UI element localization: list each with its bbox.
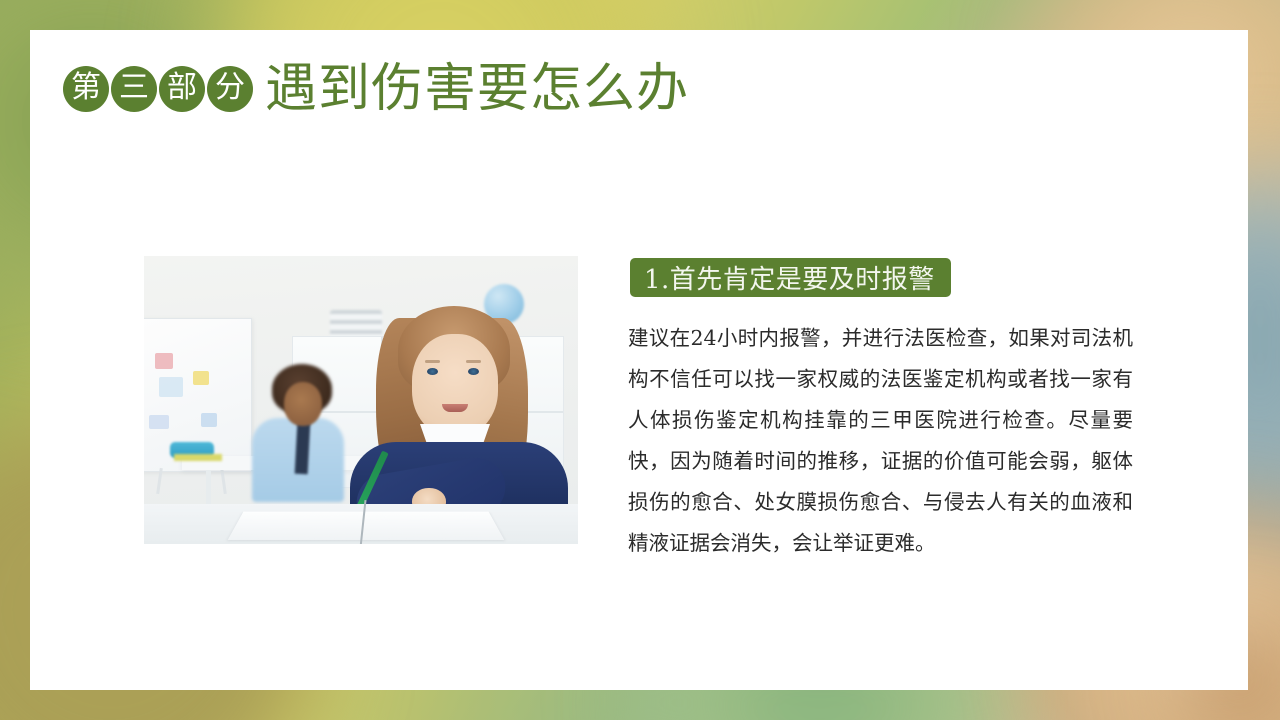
photo-boy-tie <box>295 422 311 475</box>
slide-title: 第 三 部 分 遇到伤害要怎么办 <box>63 63 689 115</box>
photo-back-desk-leg <box>206 470 211 506</box>
photo-whiteboard-note <box>201 413 217 427</box>
photo-girl-smile <box>442 404 468 412</box>
photo-girl-eye-left <box>427 368 438 375</box>
content-heading-banner: 1.首先肯定是要及时报警 <box>630 258 951 297</box>
page-title: 遇到伤害要怎么办 <box>265 63 689 115</box>
section-badge-3: 部 <box>159 66 205 112</box>
photo-girl-eye-right <box>468 368 479 375</box>
presentation-slide: 第 三 部 分 遇到伤害要怎么办 <box>0 0 1280 720</box>
section-badge-2: 三 <box>111 66 157 112</box>
section-badge-4: 分 <box>207 66 253 112</box>
photo-whiteboard-note <box>149 415 169 429</box>
content-paragraph: 建议在24小时内报警，并进行法医检查，如果对司法机构不信任可以找一家权威的法医鉴… <box>628 318 1133 564</box>
photo-open-notebook <box>228 512 505 540</box>
photo-girl-eyebrow-left <box>425 360 440 363</box>
photo-notebook-stack <box>174 454 222 461</box>
photo-whiteboard-note <box>193 371 209 385</box>
photo-girl-eyebrow-right <box>466 360 481 363</box>
photo-whiteboard-note <box>155 353 173 369</box>
section-badge-1: 第 <box>63 66 109 112</box>
classroom-photo <box>144 256 578 544</box>
photo-girl-face <box>412 334 498 436</box>
photo-whiteboard-note <box>159 377 183 397</box>
photo-boy-face <box>284 382 322 426</box>
